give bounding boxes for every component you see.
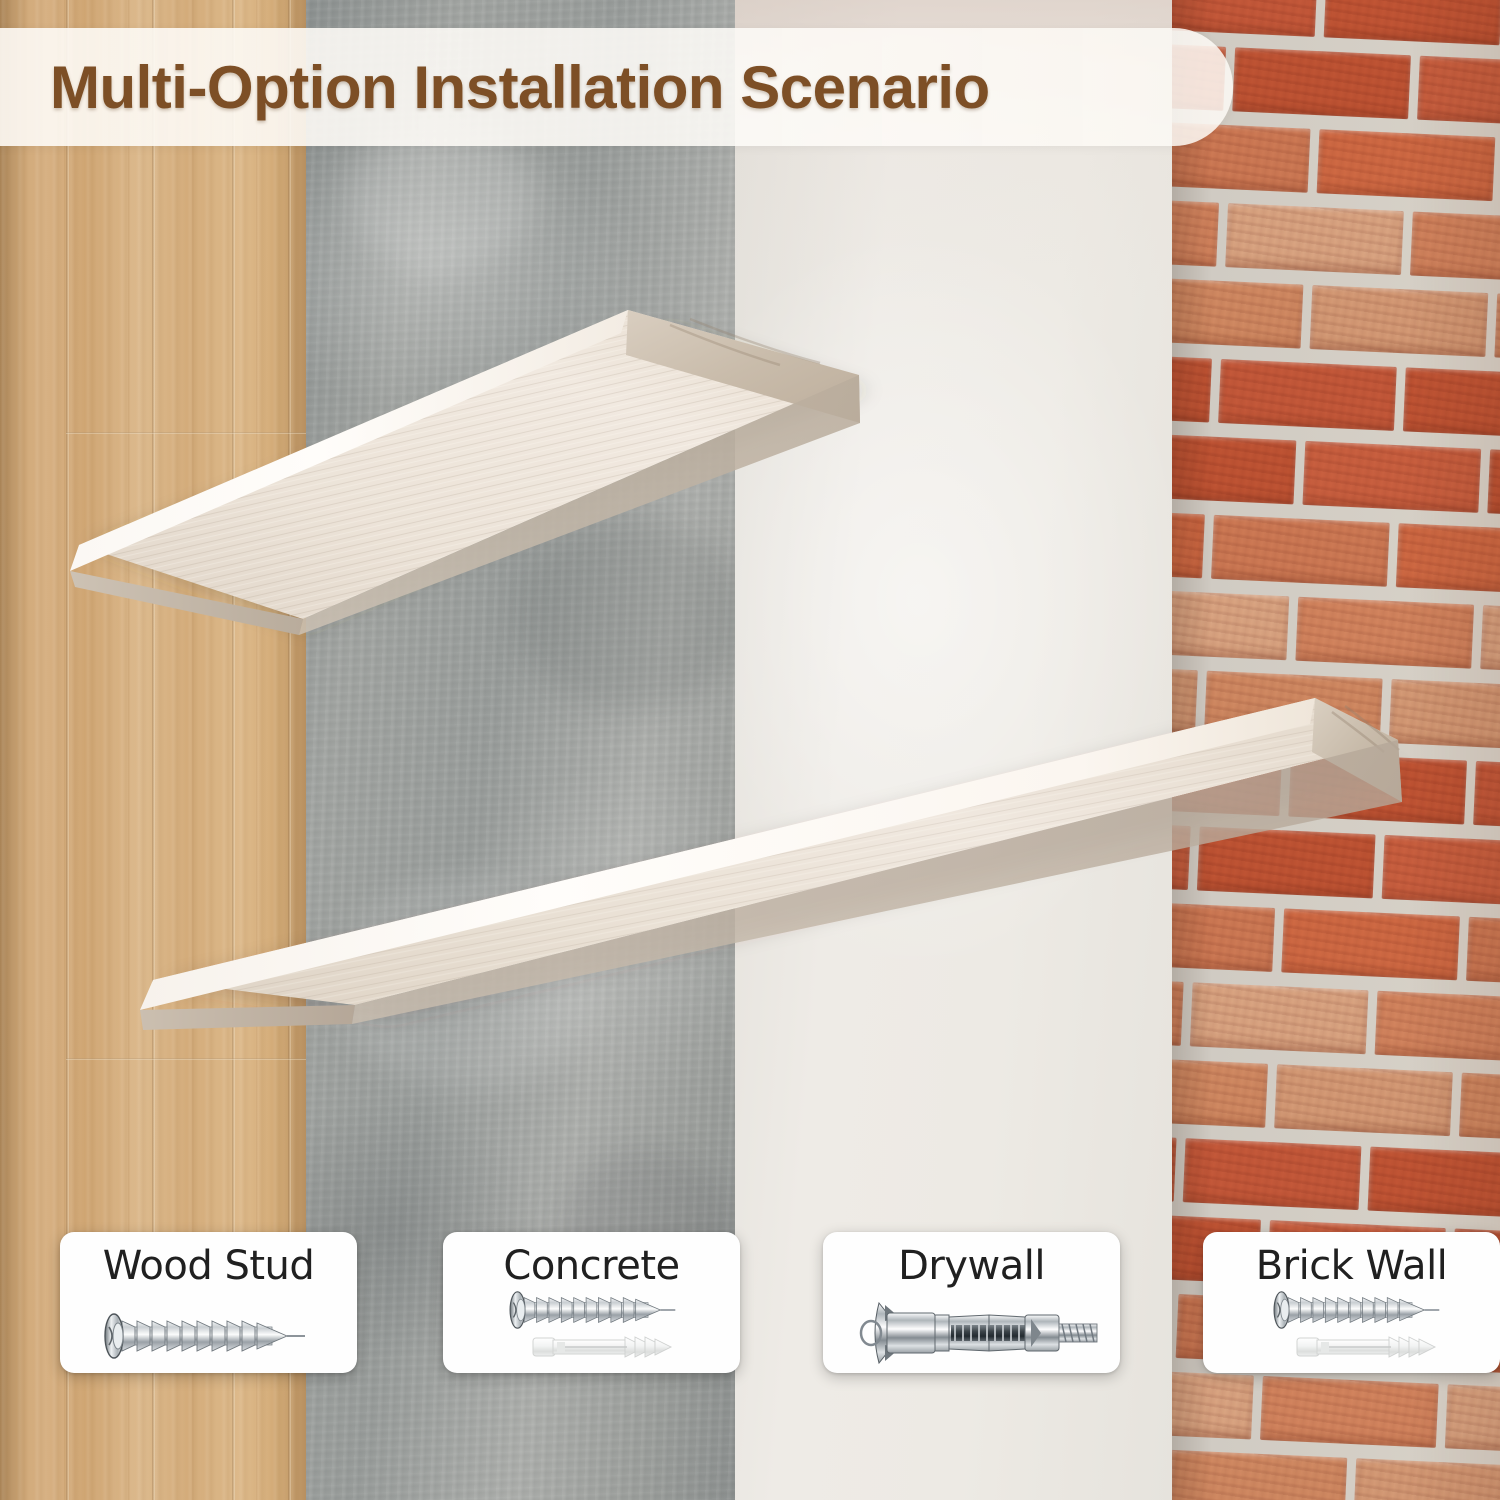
brick-course (1172, 428, 1500, 524)
brick (1260, 1376, 1439, 1448)
molly-bolt-anchor-icon (845, 1299, 1103, 1367)
card-title-brick-wall: Brick Wall (1256, 1243, 1448, 1289)
card-title-wood-stud: Wood Stud (103, 1243, 315, 1289)
brick (1368, 1147, 1500, 1219)
wood-screw-icon (1265, 1291, 1455, 1329)
hardware-figures (823, 1289, 1120, 1373)
brick (1172, 1130, 1177, 1202)
brick (1172, 588, 1289, 660)
brick (1172, 506, 1205, 578)
brick (1466, 917, 1500, 989)
title-banner: Multi-Option Installation Scenario (0, 28, 1233, 146)
brick (1172, 195, 1219, 267)
brick-course (1172, 583, 1500, 679)
brick (1225, 203, 1404, 275)
brick (1396, 523, 1500, 595)
label-card-brick-wall[interactable]: Brick Wall (1203, 1232, 1500, 1373)
brick (1172, 1368, 1254, 1440)
label-card-concrete[interactable]: Concrete (443, 1232, 740, 1373)
brick (1274, 1064, 1453, 1136)
wall-anchor-plug-icon (531, 1331, 677, 1363)
hardware-figures (443, 1289, 740, 1373)
brick (1459, 1073, 1500, 1145)
floating-shelf-upper (70, 295, 860, 615)
brick (1317, 129, 1496, 201)
brick (1172, 433, 1296, 505)
brick-course (1172, 505, 1500, 601)
brick (1172, 1450, 1347, 1500)
brick (1389, 679, 1500, 751)
floating-shelf-lower (140, 680, 1405, 1000)
brick (1302, 441, 1481, 513)
shelf-underside-right (352, 740, 1402, 1024)
brick (1494, 293, 1500, 365)
label-card-drywall[interactable]: Drywall (823, 1232, 1120, 1373)
brick (1375, 991, 1500, 1063)
label-card-wood-stud[interactable]: Wood Stud (60, 1232, 357, 1373)
page-title: Multi-Option Installation Scenario (50, 53, 990, 122)
card-title-concrete: Concrete (503, 1243, 679, 1289)
brick (1480, 605, 1500, 677)
wood-panel-groove (66, 1058, 306, 1060)
brick (1183, 1138, 1362, 1210)
wood-screw-icon (96, 1313, 322, 1359)
brick (1218, 359, 1397, 431)
brick (1353, 1458, 1500, 1500)
brick (1172, 351, 1212, 423)
card-title-drywall: Drywall (898, 1243, 1045, 1289)
brick (1473, 761, 1500, 833)
hardware-figures (1203, 1289, 1500, 1373)
brick (1310, 285, 1489, 357)
brick (1410, 212, 1500, 284)
brick (1172, 277, 1303, 349)
product-marketing-image: Multi-Option Installation Scenario Wood … (0, 0, 1500, 1500)
wall-anchor-plug-icon (1295, 1331, 1441, 1363)
brick (1324, 0, 1500, 45)
brick (1487, 449, 1500, 521)
brick (1417, 56, 1500, 128)
hardware-figures (60, 1289, 357, 1373)
brick (1211, 515, 1390, 587)
brick (1445, 1384, 1500, 1456)
brick (1403, 367, 1500, 439)
wood-screw-icon (501, 1291, 691, 1329)
brick (1172, 1056, 1268, 1128)
brick (1232, 47, 1411, 119)
brick (1295, 597, 1474, 669)
